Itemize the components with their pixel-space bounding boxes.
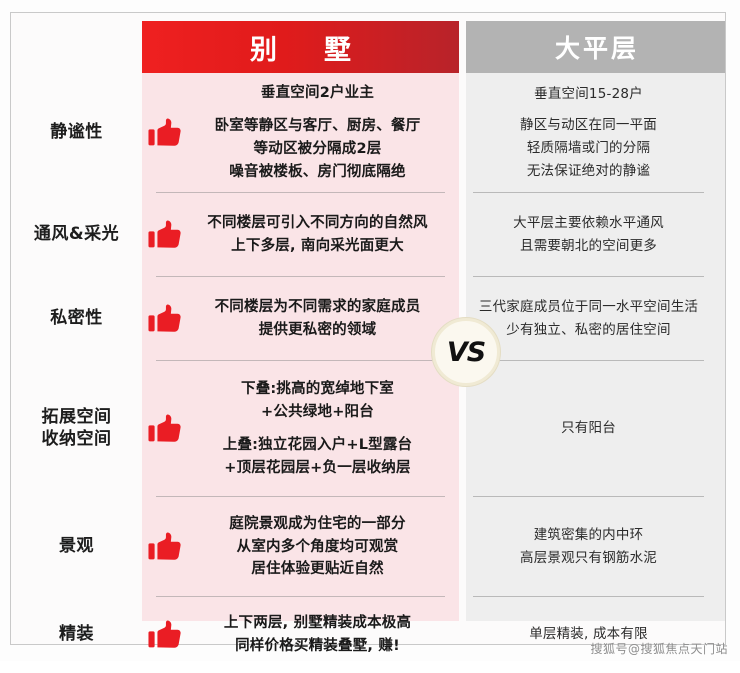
flat-cell-text: 三代家庭成员位于同一水平空间生活少有独立、私密的居住空间 [469,296,708,342]
row-label: 私密性 [11,277,142,361]
villa-column-title: 别 墅 [240,28,361,67]
table-row: 拓展空间收纳空间下叠:挑高的宽绰地下室+公共绿地+阳台上叠:独立花园入户+L型露… [11,361,725,497]
row-label: 拓展空间收纳空间 [11,361,142,497]
thumbs-up-icon [148,220,182,250]
vs-badge: VS [432,318,500,386]
villa-cell-text: 垂直空间2户业主卧室等静区与客厅、厨房、餐厅等动区被分隔成2层噪音被楼板、房门彻… [184,82,451,184]
row-label-text: 通风&采光 [34,224,119,246]
villa-cell-text: 不同楼层可引入不同方向的自然风上下多层, 南向采光面更大 [184,212,451,258]
row-label-text: 私密性 [50,308,103,330]
flat-cell: 单层精装, 成本有限 [459,597,718,673]
villa-cell-inner: 上下两层, 别墅精装成本极高同样价格买精装叠墅, 赚! [148,612,451,658]
comparison-rows: 静谧性垂直空间2户业主卧室等静区与客厅、厨房、餐厅等动区被分隔成2层噪音被楼板、… [11,73,725,673]
villa-cell: 不同楼层可引入不同方向的自然风上下多层, 南向采光面更大 [142,193,459,277]
villa-cell-inner: 不同楼层为不同需求的家庭成员提供更私密的领域 [148,296,451,342]
flat-cell: 只有阳台 [459,361,718,497]
villa-cell-text: 庭院景观成为住宅的一部分从室内多个角度均可观赏居住体验更贴近自然 [184,513,451,582]
flat-cell-text: 只有阳台 [469,417,708,440]
thumbs-up-icon [148,532,182,562]
table-row: 静谧性垂直空间2户业主卧室等静区与客厅、厨房、餐厅等动区被分隔成2层噪音被楼板、… [11,73,725,193]
flat-column-header: 大平层 [466,21,725,73]
row-label-text: 静谧性 [50,122,103,144]
flat-cell-text: 大平层主要依赖水平通风且需要朝北的空间更多 [469,212,708,258]
row-label-text: 精装 [59,624,94,646]
table-row: 通风&采光不同楼层可引入不同方向的自然风上下多层, 南向采光面更大大平层主要依赖… [11,193,725,277]
flat-cell: 建筑密集的内中环高层景观只有钢筋水泥 [459,497,718,597]
watermark: 搜狐号@搜狐焦点天门站 [590,640,728,657]
row-label: 静谧性 [11,73,142,193]
row-label: 通风&采光 [11,193,142,277]
villa-cell-text: 不同楼层为不同需求的家庭成员提供更私密的领域 [184,296,451,342]
comparison-infographic: 别 墅 大平层 静谧性垂直空间2户业主卧室等静区与客厅、厨房、餐厅等动区被分隔成… [0,0,740,661]
villa-cell: 庭院景观成为住宅的一部分从室内多个角度均可观赏居住体验更贴近自然 [142,497,459,597]
villa-cell: 垂直空间2户业主卧室等静区与客厅、厨房、餐厅等动区被分隔成2层噪音被楼板、房门彻… [142,73,459,193]
flat-cell: 垂直空间15-28户静区与动区在同一平面轻质隔墙或门的分隔无法保证绝对的静谧 [459,73,718,193]
villa-cell: 上下两层, 别墅精装成本极高同样价格买精装叠墅, 赚! [142,597,459,673]
villa-cell-text: 下叠:挑高的宽绰地下室+公共绿地+阳台上叠:独立花园入户+L型露台+顶层花园层+… [184,378,451,480]
row-label: 精装 [11,597,142,673]
thumbs-up-icon [148,118,182,148]
flat-column-title: 大平层 [552,29,639,65]
villa-cell-inner: 垂直空间2户业主卧室等静区与客厅、厨房、餐厅等动区被分隔成2层噪音被楼板、房门彻… [148,82,451,184]
villa-cell-inner: 下叠:挑高的宽绰地下室+公共绿地+阳台上叠:独立花园入户+L型露台+顶层花园层+… [148,378,451,480]
vs-label: VS [447,337,485,368]
villa-column-header: 别 墅 [142,21,459,73]
row-label-text: 拓展空间收纳空间 [42,407,112,451]
flat-cell-text: 垂直空间15-28户静区与动区在同一平面轻质隔墙或门的分隔无法保证绝对的静谧 [469,83,708,184]
row-label: 景观 [11,497,142,597]
villa-cell: 不同楼层为不同需求的家庭成员提供更私密的领域 [142,277,459,361]
flat-cell: 大平层主要依赖水平通风且需要朝北的空间更多 [459,193,718,277]
flat-cell-text: 建筑密集的内中环高层景观只有钢筋水泥 [469,524,708,570]
table-row: 私密性不同楼层为不同需求的家庭成员提供更私密的领域三代家庭成员位于同一水平空间生… [11,277,725,361]
table-row: 景观庭院景观成为住宅的一部分从室内多个角度均可观赏居住体验更贴近自然建筑密集的内… [11,497,725,597]
thumbs-up-icon [148,304,182,334]
thumbs-up-icon [148,620,182,650]
villa-cell: 下叠:挑高的宽绰地下室+公共绿地+阳台上叠:独立花园入户+L型露台+顶层花园层+… [142,361,459,497]
row-label-text: 景观 [59,536,94,558]
villa-cell-inner: 庭院景观成为住宅的一部分从室内多个角度均可观赏居住体验更贴近自然 [148,513,451,582]
thumbs-up-icon [148,414,182,444]
villa-cell-inner: 不同楼层可引入不同方向的自然风上下多层, 南向采光面更大 [148,212,451,258]
table-row: 精装上下两层, 别墅精装成本极高同样价格买精装叠墅, 赚!单层精装, 成本有限 [11,597,725,673]
villa-cell-text: 上下两层, 别墅精装成本极高同样价格买精装叠墅, 赚! [184,612,451,658]
